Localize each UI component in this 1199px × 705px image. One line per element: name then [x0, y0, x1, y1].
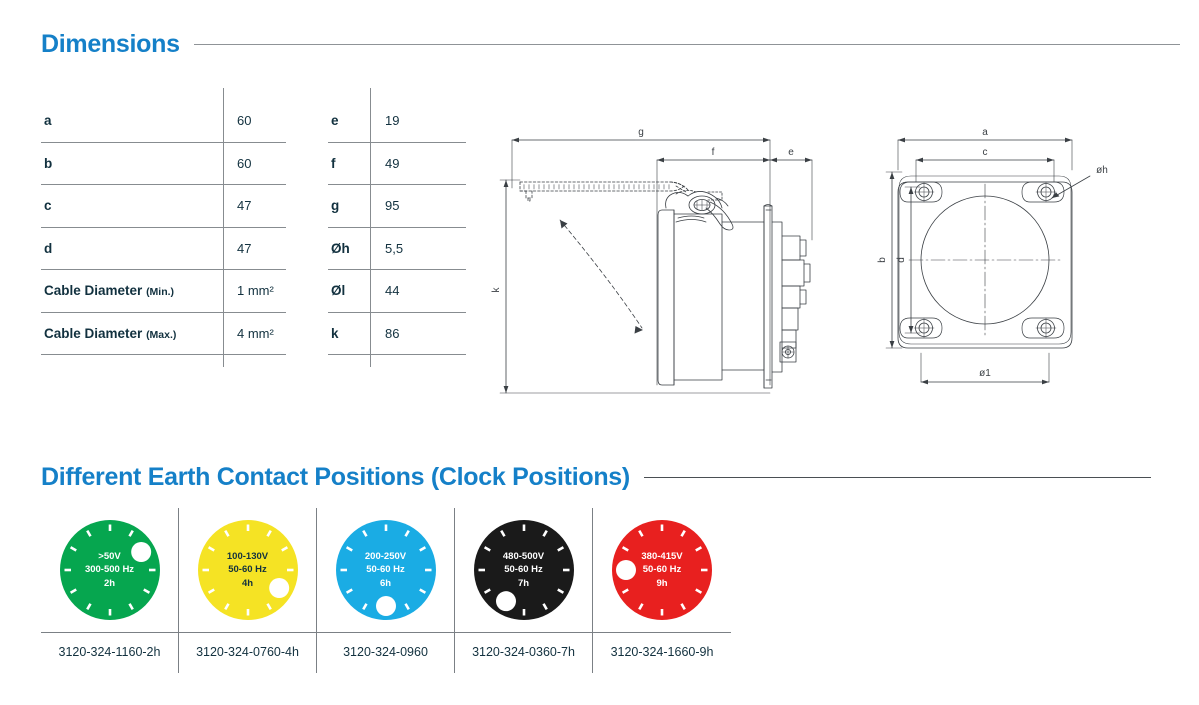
- lid-hatching: [524, 185, 669, 190]
- dimension-value: 49: [385, 156, 399, 171]
- drawings-svg: g f e: [480, 110, 1180, 440]
- earth-contact-dot: [376, 596, 396, 616]
- earth-contact-dot: [496, 591, 516, 611]
- dimension-value: 60: [237, 156, 251, 171]
- dimension-value: 86: [385, 326, 399, 341]
- part-number: 3120-324-0960: [343, 633, 428, 659]
- table-row: b 60: [41, 143, 286, 186]
- dial-face: [474, 520, 574, 620]
- dimension-value: 5,5: [385, 241, 403, 256]
- center-lines: [909, 184, 1061, 336]
- table-row: a 60: [41, 100, 286, 143]
- dimension-g: g: [512, 127, 770, 385]
- clock-dial-area: >50V300-500 Hz2h: [41, 508, 178, 633]
- page-title: Dimensions: [41, 32, 180, 57]
- clock-section-title: Different Earth Contact Positions (Clock…: [41, 465, 630, 490]
- dimension-value: 1 mm²: [237, 283, 274, 298]
- clock-dial-svg: [608, 516, 716, 624]
- dimension-e: e: [770, 147, 812, 240]
- svg-text:f: f: [712, 147, 715, 158]
- clock-position-cell[interactable]: 480-500V50-60 Hz7h3120-324-0360-7h: [455, 508, 593, 673]
- dimensions-table: a 60 b 60 c 47 d 47 Cable Diameter (Min.…: [41, 100, 466, 355]
- dimension-label: b: [44, 156, 52, 171]
- dimension-label: c: [44, 198, 52, 213]
- clock-position-cell[interactable]: 200-250V50-60 Hz6h3120-324-0960: [317, 508, 455, 673]
- table-row: e 19: [328, 100, 466, 143]
- heading-rule: [644, 477, 1151, 478]
- clock-dial-svg: [56, 516, 164, 624]
- dimension-value: 60: [237, 113, 251, 128]
- dimensions-table-left-column: a 60 b 60 c 47 d 47 Cable Diameter (Min.…: [41, 100, 286, 355]
- svg-text:ø1: ø1: [979, 368, 991, 379]
- dial-face: [60, 520, 160, 620]
- dimension-label: a: [44, 113, 52, 128]
- clock-dial-area: 100-130V50-60 Hz4h: [179, 508, 316, 633]
- clock-position-cell[interactable]: 100-130V50-60 Hz4h3120-324-0760-4h: [179, 508, 317, 673]
- dimension-label: k: [331, 326, 339, 341]
- clock-dial-area: 200-250V50-60 Hz6h: [317, 508, 454, 633]
- earth-contact-dot: [616, 560, 636, 580]
- clock-dial[interactable]: 200-250V50-60 Hz6h: [332, 516, 440, 624]
- dimension-ol: ø1: [921, 353, 1049, 384]
- svg-text:e: e: [788, 147, 794, 158]
- svg-text:c: c: [983, 147, 988, 158]
- clock-section-header: Different Earth Contact Positions (Clock…: [41, 465, 1151, 490]
- svg-text:g: g: [638, 127, 644, 138]
- heading-rule: [194, 44, 1180, 45]
- clock-dial[interactable]: 480-500V50-60 Hz7h: [470, 516, 578, 624]
- part-number: 3120-324-1660-9h: [611, 633, 714, 659]
- dimension-value: 95: [385, 198, 399, 213]
- lid-swing-arrow: [560, 220, 642, 328]
- dimension-label: Cable Diameter (Max.): [44, 326, 176, 341]
- dimension-label: e: [331, 113, 339, 128]
- part-number: 3120-324-0760-4h: [196, 633, 299, 659]
- table-row: Cable Diameter (Max.) 4 mm²: [41, 313, 286, 356]
- socket-body: [658, 205, 810, 389]
- dimension-oh: øh: [1052, 165, 1108, 198]
- clock-dial-svg: [194, 516, 302, 624]
- table-row: c 47: [41, 185, 286, 228]
- latch-lever: [666, 191, 733, 230]
- part-number: 3120-324-0360-7h: [472, 633, 575, 659]
- dimension-value: 44: [385, 283, 399, 298]
- dimension-label: g: [331, 198, 339, 213]
- technical-drawings: g f e: [480, 110, 1180, 440]
- clock-dial-area: 480-500V50-60 Hz7h: [455, 508, 592, 633]
- dimension-label: f: [331, 156, 336, 171]
- dimension-value: 19: [385, 113, 399, 128]
- table-row: Øh 5,5: [328, 228, 466, 271]
- svg-text:k: k: [491, 287, 502, 293]
- clock-dial[interactable]: 100-130V50-60 Hz4h: [194, 516, 302, 624]
- dimensions-section-header: Dimensions: [41, 32, 1180, 57]
- table-row: Øl 44: [328, 270, 466, 313]
- earth-contact-dot: [269, 578, 289, 598]
- clock-position-cell[interactable]: >50V300-500 Hz2h3120-324-1160-2h: [41, 508, 179, 673]
- svg-text:øh: øh: [1096, 165, 1108, 176]
- dimension-label: Øl: [331, 283, 345, 298]
- clock-dial-area: 380-415V50-60 Hz9h: [593, 508, 731, 633]
- clock-dial-svg: [332, 516, 440, 624]
- table-row: g 95: [328, 185, 466, 228]
- clock-positions-block: >50V300-500 Hz2h3120-324-1160-2h100-130V…: [41, 508, 731, 673]
- clock-dial[interactable]: >50V300-500 Hz2h: [56, 516, 164, 624]
- side-view-drawing: g f e: [491, 127, 812, 393]
- table-row: f 49: [328, 143, 466, 186]
- table-row: k 86: [328, 313, 466, 356]
- svg-text:b: b: [877, 257, 888, 263]
- dimension-label: Øh: [331, 241, 350, 256]
- dimension-value: 47: [237, 241, 251, 256]
- clock-dial-svg: [470, 516, 578, 624]
- dimension-k: k: [491, 180, 770, 393]
- front-view-drawing: a c b: [877, 127, 1108, 384]
- table-row: Cable Diameter (Min.) 1 mm²: [41, 270, 286, 313]
- clock-dial[interactable]: 380-415V50-60 Hz9h: [608, 516, 716, 624]
- dimension-label: Cable Diameter (Min.): [44, 283, 174, 298]
- dimension-label: d: [44, 241, 52, 256]
- dimension-value: 4 mm²: [237, 326, 274, 341]
- clock-positions-grid: >50V300-500 Hz2h3120-324-1160-2h100-130V…: [41, 508, 731, 673]
- dial-face: [198, 520, 298, 620]
- dimension-value: 47: [237, 198, 251, 213]
- dimension-c: c: [916, 147, 1054, 182]
- clock-position-cell[interactable]: 380-415V50-60 Hz9h3120-324-1660-9h: [593, 508, 731, 673]
- table-row: d 47: [41, 228, 286, 271]
- earth-contact-dot: [131, 542, 151, 562]
- part-number: 3120-324-1160-2h: [59, 633, 161, 659]
- svg-text:a: a: [982, 127, 988, 138]
- dimensions-table-right-column: e 19 f 49 g 95 Øh 5,5 Øl 44 k 86: [328, 100, 466, 355]
